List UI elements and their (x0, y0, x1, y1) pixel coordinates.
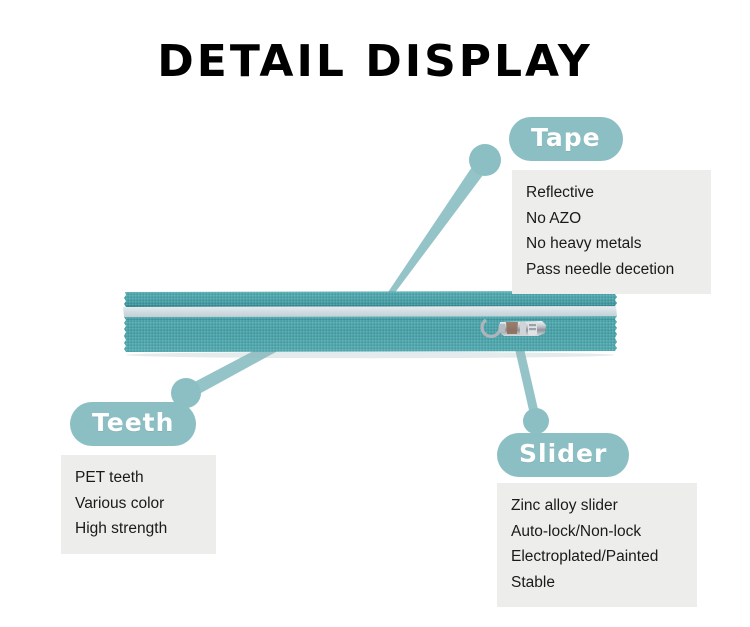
info-line: No AZO (526, 206, 697, 232)
info-line: High strength (75, 516, 202, 542)
detail-display-page: DETAIL DISPLAY (0, 0, 750, 627)
info-line: Electroplated/Painted (511, 544, 683, 570)
info-box-tape: Reflective No AZO No heavy metals Pass n… (512, 170, 711, 294)
badge-slider[interactable]: Slider (497, 433, 629, 477)
badge-teeth[interactable]: Teeth (70, 402, 196, 446)
info-line: Stable (511, 570, 683, 596)
info-line: Pass needle decetion (526, 257, 697, 283)
zipper-product-image (120, 286, 620, 366)
zipper-reflective-stripe (123, 306, 617, 317)
info-box-teeth: PET teeth Various color High strength (61, 455, 216, 554)
info-box-slider: Zinc alloy slider Auto-lock/Non-lock Ele… (497, 483, 697, 607)
info-line: Auto-lock/Non-lock (511, 519, 683, 545)
info-line: No heavy metals (526, 231, 697, 257)
info-line: Various color (75, 491, 202, 517)
info-line: PET teeth (75, 465, 202, 491)
info-line: Reflective (526, 180, 697, 206)
info-line: Zinc alloy slider (511, 493, 683, 519)
badge-tape[interactable]: Tape (509, 117, 623, 161)
page-title: DETAIL DISPLAY (0, 36, 750, 87)
